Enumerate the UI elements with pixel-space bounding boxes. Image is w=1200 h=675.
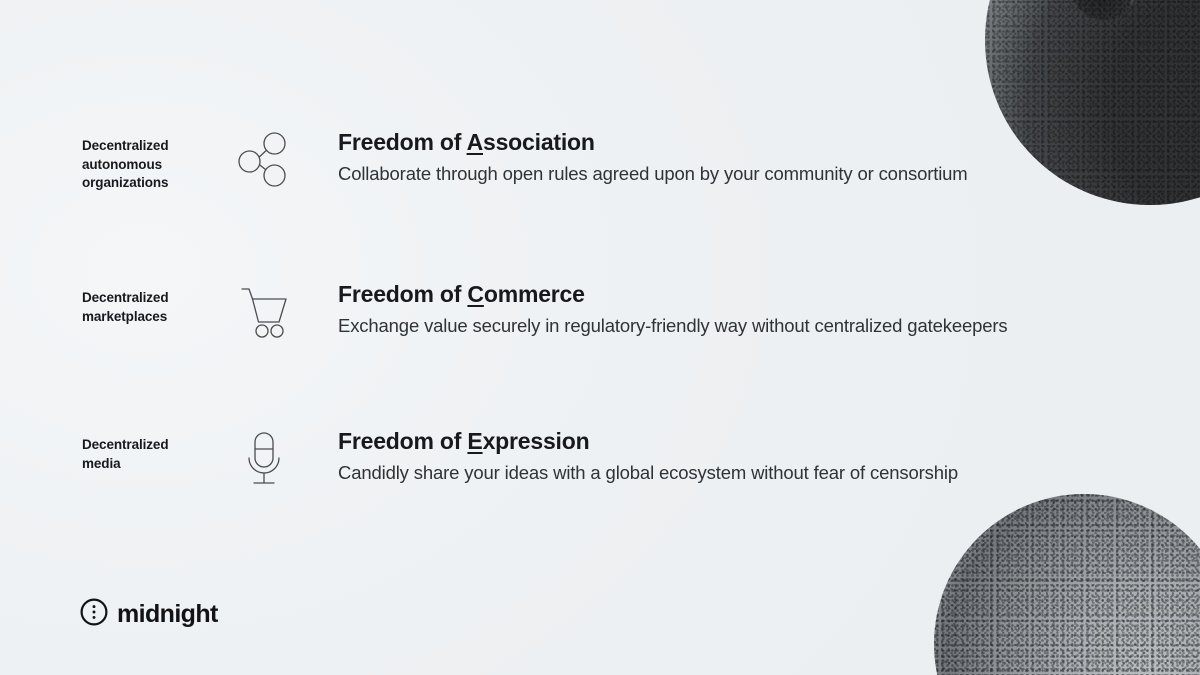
sphere-grain-texture: [1071, 0, 1137, 20]
feature-title-prefix: Freedom of: [338, 281, 467, 307]
feature-tag-label: Decentralized marketplaces: [82, 280, 222, 326]
feature-title: Freedom of Commerce: [338, 280, 1200, 308]
feature-text-block: Freedom of Expression Candidly share you…: [338, 427, 1200, 486]
feature-title-prefix: Freedom of: [338, 428, 467, 454]
feature-row: Decentralized marketplaces Freedom of Co…: [0, 280, 1200, 340]
feature-title-suffix: ssociation: [483, 129, 595, 155]
shopping-cart-icon: [236, 282, 292, 340]
sphere-grain-texture: [934, 494, 1200, 675]
feature-icon-slot: [228, 427, 300, 489]
feature-title-prefix: Freedom of: [338, 129, 467, 155]
microphone-icon: [242, 429, 286, 489]
feature-text-block: Freedom of Association Collaborate throu…: [338, 128, 1200, 187]
feature-icon-slot: [228, 128, 300, 188]
feature-row: Decentralized autonomous organizations F…: [0, 128, 1200, 193]
feature-description: Collaborate through open rules agreed up…: [338, 161, 1200, 187]
feature-title-initial: A: [467, 129, 483, 155]
feature-title: Freedom of Expression: [338, 427, 1200, 455]
feature-title-initial: E: [467, 428, 482, 454]
feature-title-suffix: ommerce: [484, 281, 585, 307]
brand-logo: midnight: [80, 598, 218, 631]
brand-logo-text: midnight: [117, 602, 218, 627]
slide-canvas: Decentralized autonomous organizations F…: [0, 0, 1200, 675]
network-nodes-icon: [237, 130, 291, 188]
feature-title: Freedom of Association: [338, 128, 1200, 156]
feature-row: Decentralized media Freedom of Expressio…: [0, 427, 1200, 489]
circle-vertical-dots-icon: [80, 598, 108, 631]
feature-text-block: Freedom of Commerce Exchange value secur…: [338, 280, 1200, 339]
sphere-bottom-right-decoration: [934, 494, 1200, 675]
feature-tag-label: Decentralized media: [82, 427, 222, 473]
feature-title-suffix: xpression: [483, 428, 590, 454]
feature-icon-slot: [228, 280, 300, 340]
feature-description: Candidly share your ideas with a global …: [338, 460, 1200, 486]
sphere-top-small-decoration: [1071, 0, 1137, 20]
feature-description: Exchange value securely in regulatory-fr…: [338, 313, 1200, 339]
feature-title-initial: C: [467, 281, 483, 307]
feature-tag-label: Decentralized autonomous organizations: [82, 128, 222, 193]
